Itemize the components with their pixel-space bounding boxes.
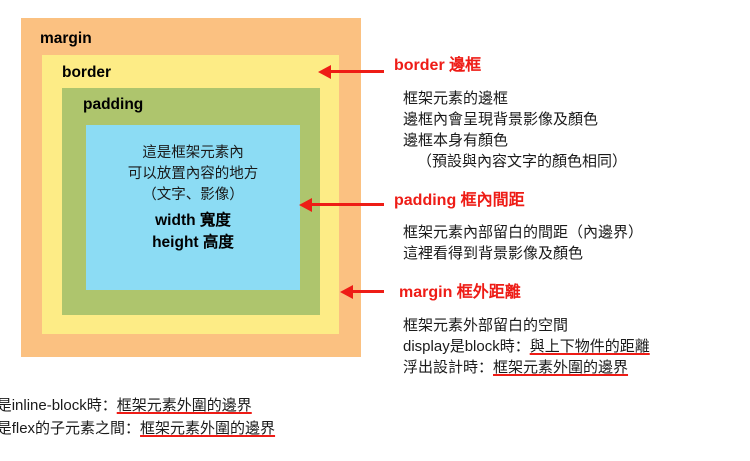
- border-annotation-body: 框架元素的邊框 邊框內會呈現背景影像及顏色 邊框本身有顏色 （預設與內容文字的顏…: [403, 88, 627, 172]
- content-line: （文字、影像）: [86, 185, 300, 206]
- float-underlined: 框架元素外圍的邊界: [493, 359, 628, 376]
- annotation-line: display是inline-block時：框架元素外圍的邊界: [0, 394, 275, 417]
- annotation-line: display是flex的子元素之間：框架元素外圍的邊界: [0, 417, 275, 440]
- height-label: height 高度: [86, 232, 300, 254]
- width-label: width 寬度: [86, 210, 300, 232]
- padding-left-arrow-icon: [299, 198, 384, 212]
- display-block-underlined: 與上下物件的距離: [530, 338, 650, 355]
- annotation-line: 框架元素外部留白的空間: [403, 315, 650, 336]
- inline-block-underlined: 框架元素外圍的邊界: [117, 397, 252, 414]
- content-description: 這是框架元素內 可以放置內容的地方 （文字、影像）: [86, 143, 300, 206]
- annotation-line: 框架元素的邊框: [403, 88, 627, 109]
- padding-box-label: padding: [83, 97, 143, 113]
- border-box-label: border: [62, 65, 111, 81]
- padding-annotation-title: padding 框內間距: [394, 193, 525, 209]
- inline-block-prefix: display是inline-block時：: [0, 397, 117, 414]
- float-prefix: 浮出設計時：: [403, 359, 493, 376]
- padding-annotation-body: 框架元素內部留白的間距（內邊界） 這裡看得到背景影像及顏色: [403, 222, 643, 264]
- margin-annotation-body: 框架元素外部留白的空間 display是block時：與上下物件的距離 浮出設計…: [403, 315, 650, 378]
- margin-annotation-title: margin 框外距離: [399, 285, 521, 301]
- annotation-line: 邊框本身有顏色: [403, 130, 627, 151]
- content-line: 可以放置內容的地方: [86, 164, 300, 185]
- annotation-line: （預設與內容文字的顏色相同）: [403, 151, 627, 172]
- padding-box: padding 這是框架元素內 可以放置內容的地方 （文字、影像） width …: [62, 88, 320, 315]
- arrow-shaft: [329, 70, 384, 73]
- arrow-shaft: [351, 290, 384, 293]
- annotations-panel: border 邊框 框架元素的邊框 邊框內會呈現背景影像及顏色 邊框本身有顏色 …: [385, 0, 750, 461]
- annotation-line: 框架元素內部留白的間距（內邊界）: [403, 222, 643, 243]
- border-left-arrow-icon: [318, 65, 384, 79]
- content-box: 這是框架元素內 可以放置內容的地方 （文字、影像） width 寬度 heigh…: [86, 125, 300, 290]
- annotation-line: 邊框內會呈現背景影像及顏色: [403, 109, 627, 130]
- margin-box-label: margin: [40, 31, 92, 47]
- annotation-line: 浮出設計時：框架元素外圍的邊界: [403, 357, 650, 378]
- margin-left-arrow-icon: [340, 285, 384, 299]
- content-line: 這是框架元素內: [86, 143, 300, 164]
- margin-box: margin border padding 這是框架元素內 可以放置內容的地方 …: [21, 18, 361, 357]
- border-box: border padding 這是框架元素內 可以放置內容的地方 （文字、影像）…: [42, 55, 339, 334]
- flex-prefix: display是flex的子元素之間：: [0, 420, 140, 437]
- border-annotation-title: border 邊框: [394, 58, 481, 74]
- extra-annotation-body: display是inline-block時：框架元素外圍的邊界 display是…: [0, 394, 275, 440]
- annotation-line-indented: （預設與內容文字的顏色相同）: [403, 151, 627, 172]
- flex-underlined: 框架元素外圍的邊界: [140, 420, 275, 437]
- annotation-line: display是block時：與上下物件的距離: [403, 336, 650, 357]
- arrow-shaft: [310, 203, 384, 206]
- display-block-prefix: display是block時：: [403, 338, 530, 355]
- annotation-line: 這裡看得到背景影像及顏色: [403, 243, 643, 264]
- content-dimensions: width 寬度 height 高度: [86, 210, 300, 254]
